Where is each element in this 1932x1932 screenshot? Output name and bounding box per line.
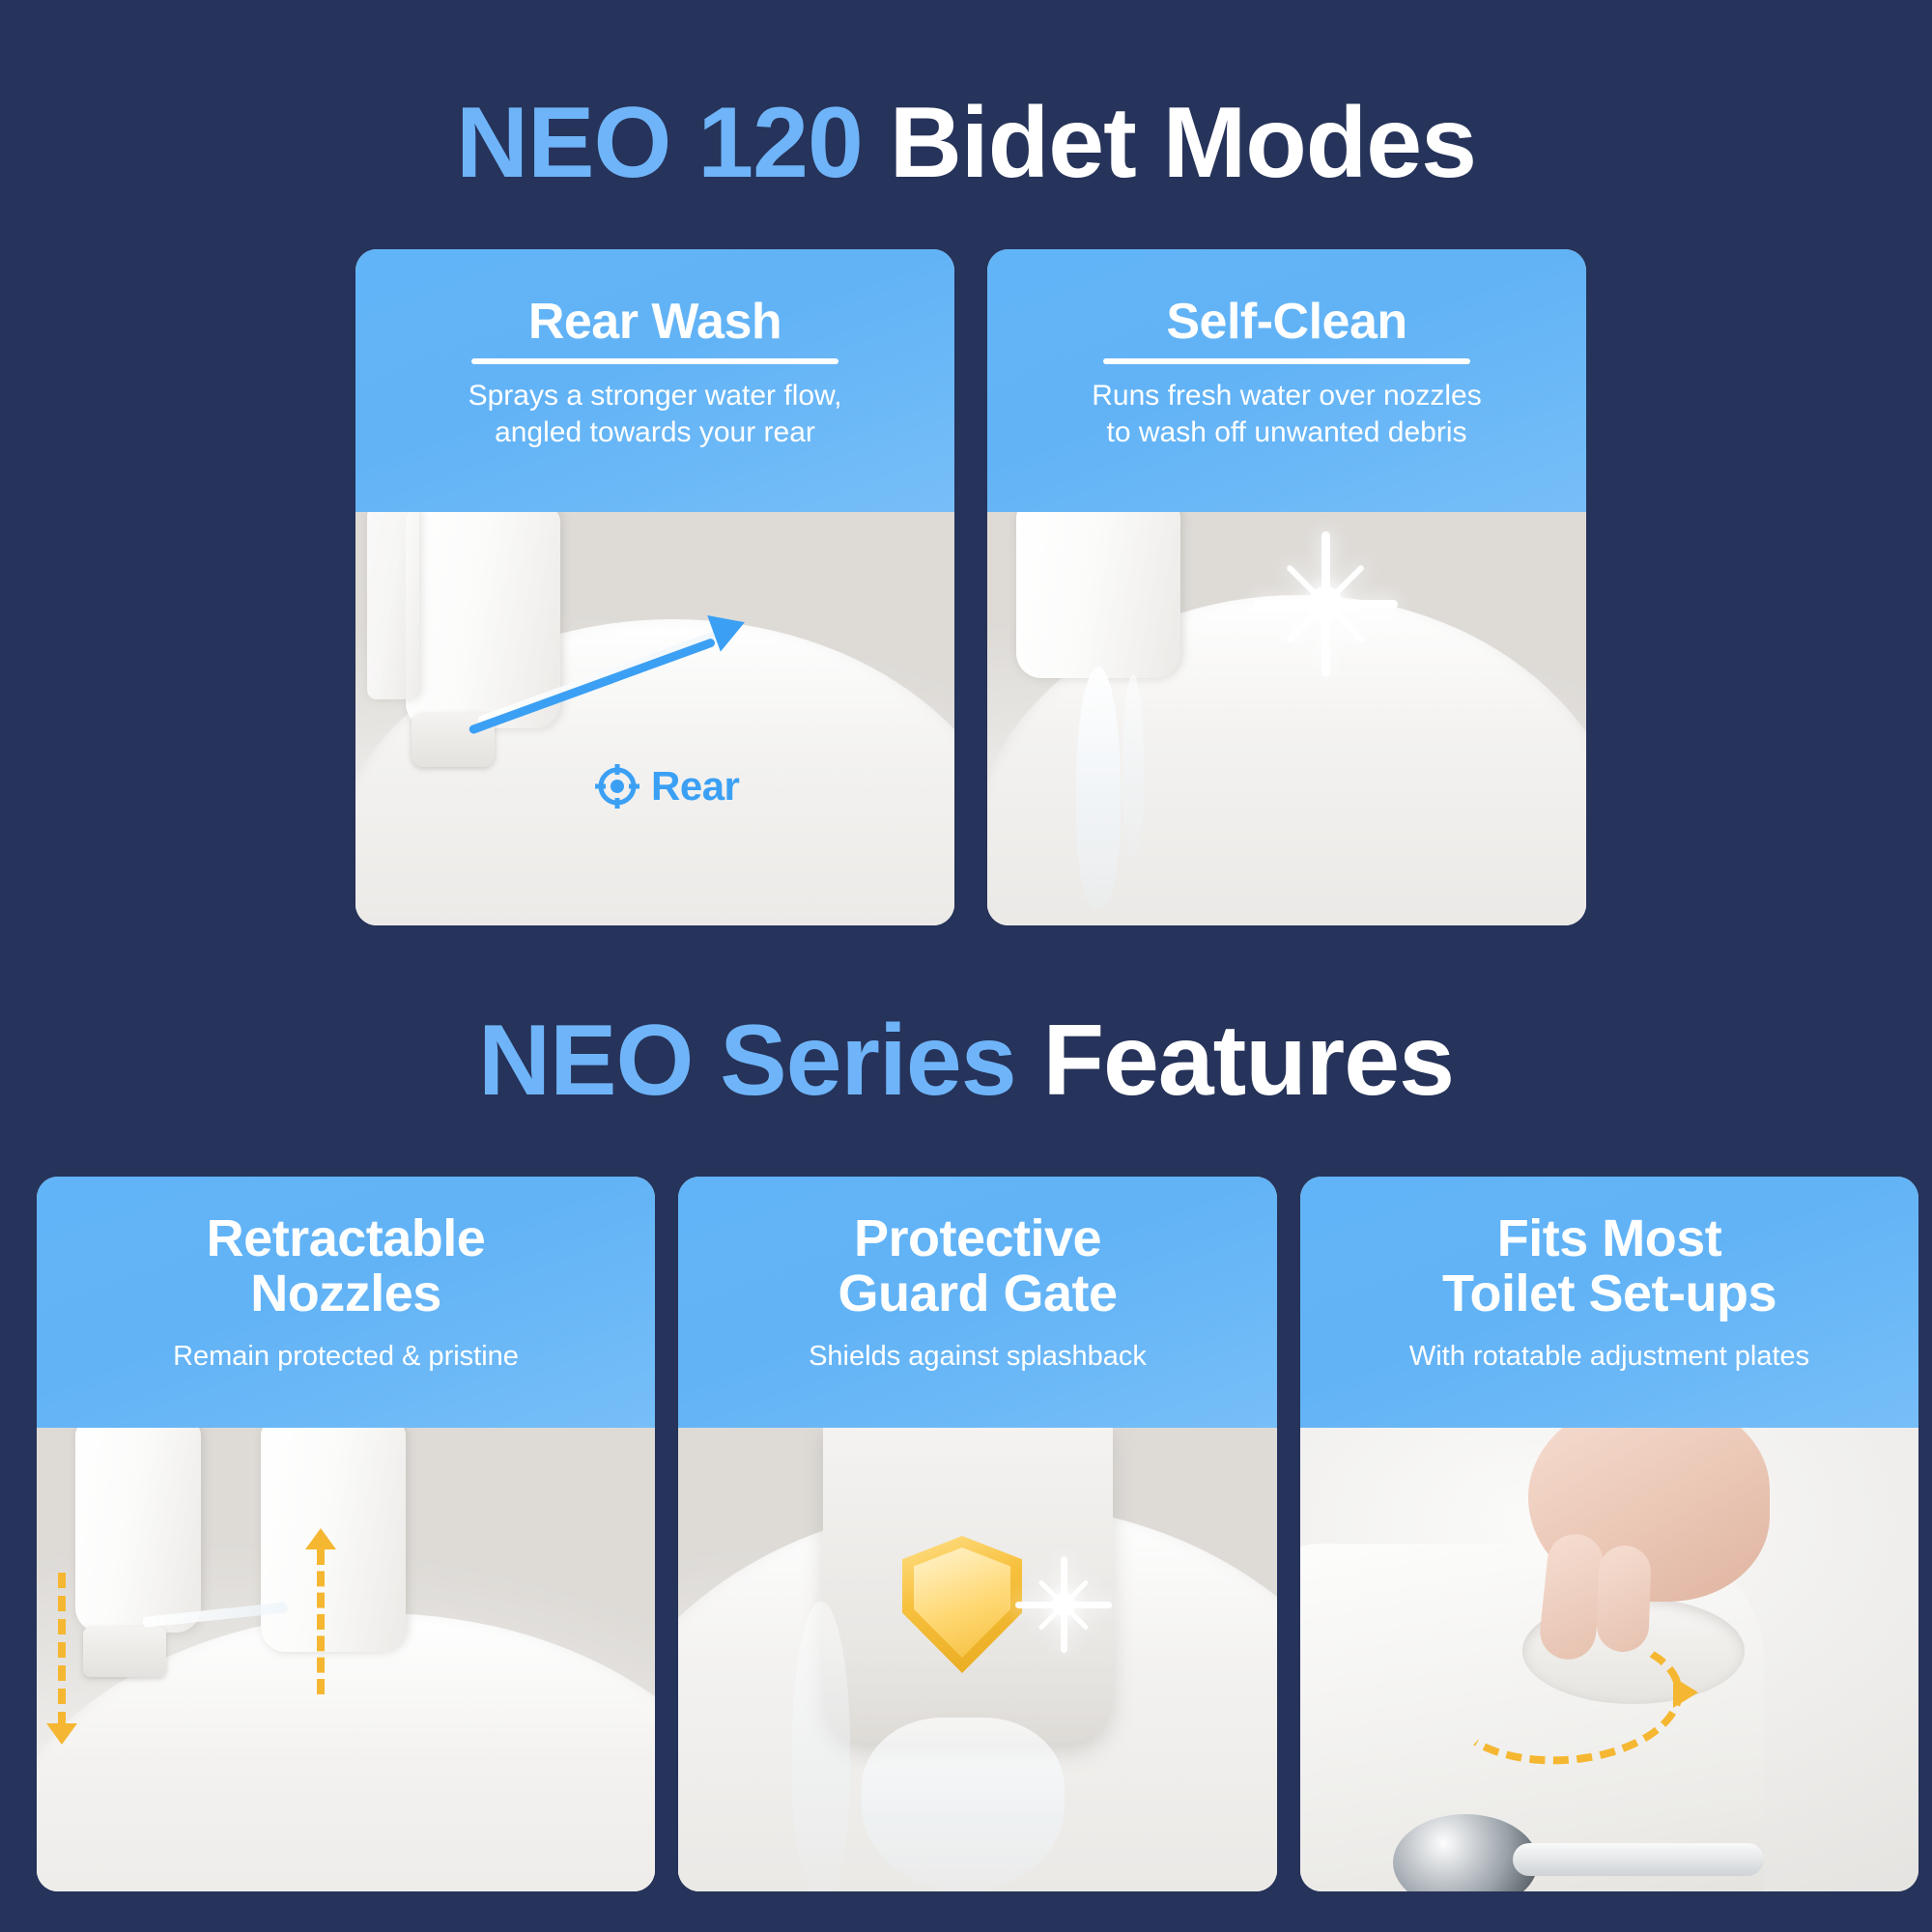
title-accent-text: NEO 120 <box>456 87 863 199</box>
page-title-bidet-modes: NEO 120 Bidet Modes <box>0 93 1932 193</box>
title-line-1: Retractable <box>50 1211 641 1266</box>
card-rear-wash[interactable]: Rear Wash Sprays a stronger water flow, … <box>355 249 954 925</box>
water-stream <box>1076 667 1121 908</box>
card-fits-photo <box>1300 1428 1918 1891</box>
card-fits-title: Fits Most Toilet Set-ups <box>1314 1211 1905 1321</box>
nozzle-tip <box>83 1627 166 1677</box>
chrome-hose <box>1513 1843 1764 1876</box>
page-title-series-features: NEO Series Features <box>0 1010 1932 1111</box>
title-accent-text: NEO Series <box>478 1005 1016 1117</box>
badge-rear-label: Rear <box>651 763 739 810</box>
card-retractable-title: Retractable Nozzles <box>50 1211 641 1321</box>
card-guard-description: Shields against splashback <box>692 1339 1264 1375</box>
description-line-1: Sprays a stronger water flow, <box>369 378 941 414</box>
title-line-2: Toilet Set-ups <box>1314 1266 1905 1321</box>
card-self-clean-title: Self-Clean <box>1001 296 1573 349</box>
title-line-1: Fits Most <box>1314 1211 1905 1266</box>
dashed-arrow-down-head <box>46 1723 77 1745</box>
description-line-2: angled towards your rear <box>369 414 941 451</box>
card-self-clean-photo <box>987 512 1586 925</box>
title-line-2: Guard Gate <box>692 1266 1264 1321</box>
card-fits-description: With rotatable adjustment plates <box>1314 1339 1905 1375</box>
title-underline-rule <box>471 358 838 364</box>
card-guard-title: Protective Guard Gate <box>692 1211 1264 1321</box>
title-rest-text: Bidet Modes <box>890 87 1476 199</box>
splash-water <box>862 1718 1065 1891</box>
dashed-arrow-up-head <box>305 1528 336 1549</box>
card-guard-header: Protective Guard Gate Shields against sp… <box>678 1177 1277 1428</box>
card-rear-wash-photo: Rear <box>355 512 954 925</box>
description-line-2: to wash off unwanted debris <box>1001 414 1573 451</box>
water-stream-thin <box>1122 674 1144 858</box>
nozzle-housing-left <box>75 1428 201 1633</box>
nozzle-housing-secondary <box>367 512 419 699</box>
card-rear-wash-header: Rear Wash Sprays a stronger water flow, … <box>355 249 954 512</box>
dashed-arrow-down-line <box>58 1573 66 1727</box>
nozzle-housing <box>1016 512 1180 678</box>
badge-rear: Rear <box>595 763 739 810</box>
card-rear-wash-title: Rear Wash <box>369 296 941 349</box>
target-crosshair-icon <box>595 764 639 809</box>
sparkle-icon <box>1243 522 1407 686</box>
card-self-clean-description: Runs fresh water over nozzles to wash of… <box>1001 378 1573 451</box>
description-line-1: Runs fresh water over nozzles <box>1001 378 1573 414</box>
card-retractable-header: Retractable Nozzles Remain protected & p… <box>37 1177 655 1428</box>
title-underline-rule <box>1103 358 1470 364</box>
card-retractable-nozzles[interactable]: Retractable Nozzles Remain protected & p… <box>37 1177 655 1891</box>
card-self-clean-header: Self-Clean Runs fresh water over nozzles… <box>987 249 1586 512</box>
card-guard-photo <box>678 1428 1277 1891</box>
card-fits-most-toilet-setups[interactable]: Fits Most Toilet Set-ups With rotatable … <box>1300 1177 1918 1891</box>
dashed-arrow-up-line <box>317 1549 325 1694</box>
sparkle-icon <box>1010 1551 1117 1658</box>
card-fits-header: Fits Most Toilet Set-ups With rotatable … <box>1300 1177 1918 1428</box>
title-line-2: Nozzles <box>50 1266 641 1321</box>
splash-water-side <box>792 1602 850 1891</box>
card-protective-guard-gate[interactable]: Protective Guard Gate Shields against sp… <box>678 1177 1277 1891</box>
card-rear-wash-description: Sprays a stronger water flow, angled tow… <box>369 378 941 451</box>
infographic-page: NEO 120 Bidet Modes Rear Wash Sprays a s… <box>0 0 1932 1932</box>
title-line-1: Protective <box>692 1211 1264 1266</box>
card-retractable-description: Remain protected & pristine <box>50 1339 641 1375</box>
card-self-clean[interactable]: Self-Clean Runs fresh water over nozzles… <box>987 249 1586 925</box>
rotation-arrow-head <box>1673 1677 1698 1708</box>
card-retractable-photo <box>37 1428 655 1891</box>
title-rest-text: Features <box>1042 1005 1454 1117</box>
